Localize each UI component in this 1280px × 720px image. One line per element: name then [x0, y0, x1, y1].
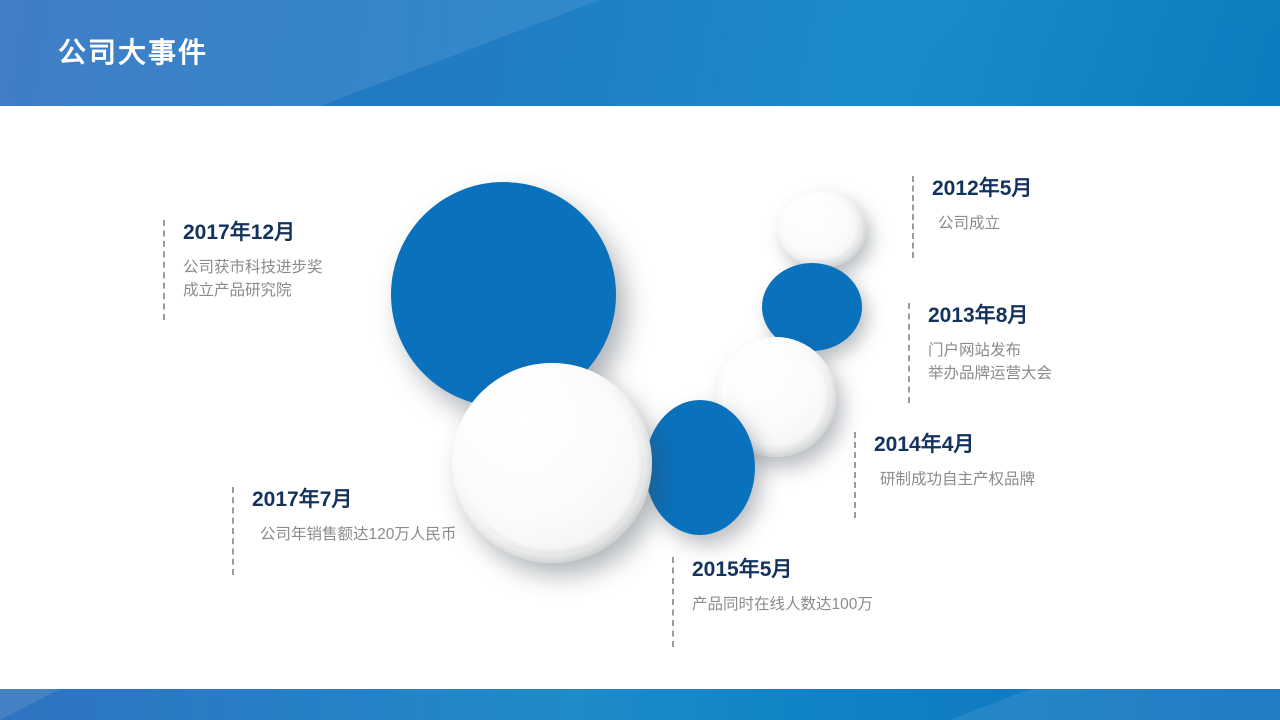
- milestone-year-label: 2017年12月: [183, 220, 323, 246]
- milestone-year-label: 2013年8月: [928, 303, 1052, 329]
- milestone-year-label: 2014年4月: [874, 432, 1035, 458]
- milestone-2017-12: 2017年12月 公司获市科技进步奖 成立产品研究院: [163, 220, 323, 320]
- milestone-description: 公司成立: [932, 212, 1032, 235]
- circle-blue-medium: [645, 400, 755, 535]
- milestone-2015-05: 2015年5月 产品同时在线人数达100万: [672, 557, 873, 647]
- slide-footer-band: [0, 689, 1280, 720]
- milestone-2012-05: 2012年5月 公司成立: [912, 176, 1032, 258]
- milestone-year-label: 2017年7月: [252, 487, 456, 513]
- milestone-2014-04: 2014年4月 研制成功自主产权品牌: [854, 432, 1035, 518]
- milestone-2017-07: 2017年7月 公司年销售额达120万人民币: [232, 487, 456, 575]
- slide-company-milestones: 公司大事件 2017年12月 公司获市科技进步奖 成立产品研究院 2017年7月…: [0, 0, 1280, 720]
- circle-cluster: [0, 0, 1280, 720]
- milestone-2013-08: 2013年8月 门户网站发布 举办品牌运营大会: [908, 303, 1052, 403]
- milestone-description: 产品同时在线人数达100万: [692, 593, 873, 616]
- milestone-description: 研制成功自主产权品牌: [874, 468, 1035, 491]
- milestone-year-label: 2012年5月: [932, 176, 1032, 202]
- milestone-year-label: 2015年5月: [692, 557, 873, 583]
- milestone-description: 门户网站发布 举办品牌运营大会: [928, 339, 1052, 385]
- milestone-description: 公司获市科技进步奖 成立产品研究院: [183, 256, 323, 302]
- footer-diagonal-accent-right: [950, 689, 1280, 720]
- footer-diagonal-accent-left: [0, 689, 120, 720]
- milestone-description: 公司年销售额达120万人民币: [252, 523, 456, 546]
- circle-white-large: [452, 363, 652, 563]
- circle-white-small: [778, 190, 866, 268]
